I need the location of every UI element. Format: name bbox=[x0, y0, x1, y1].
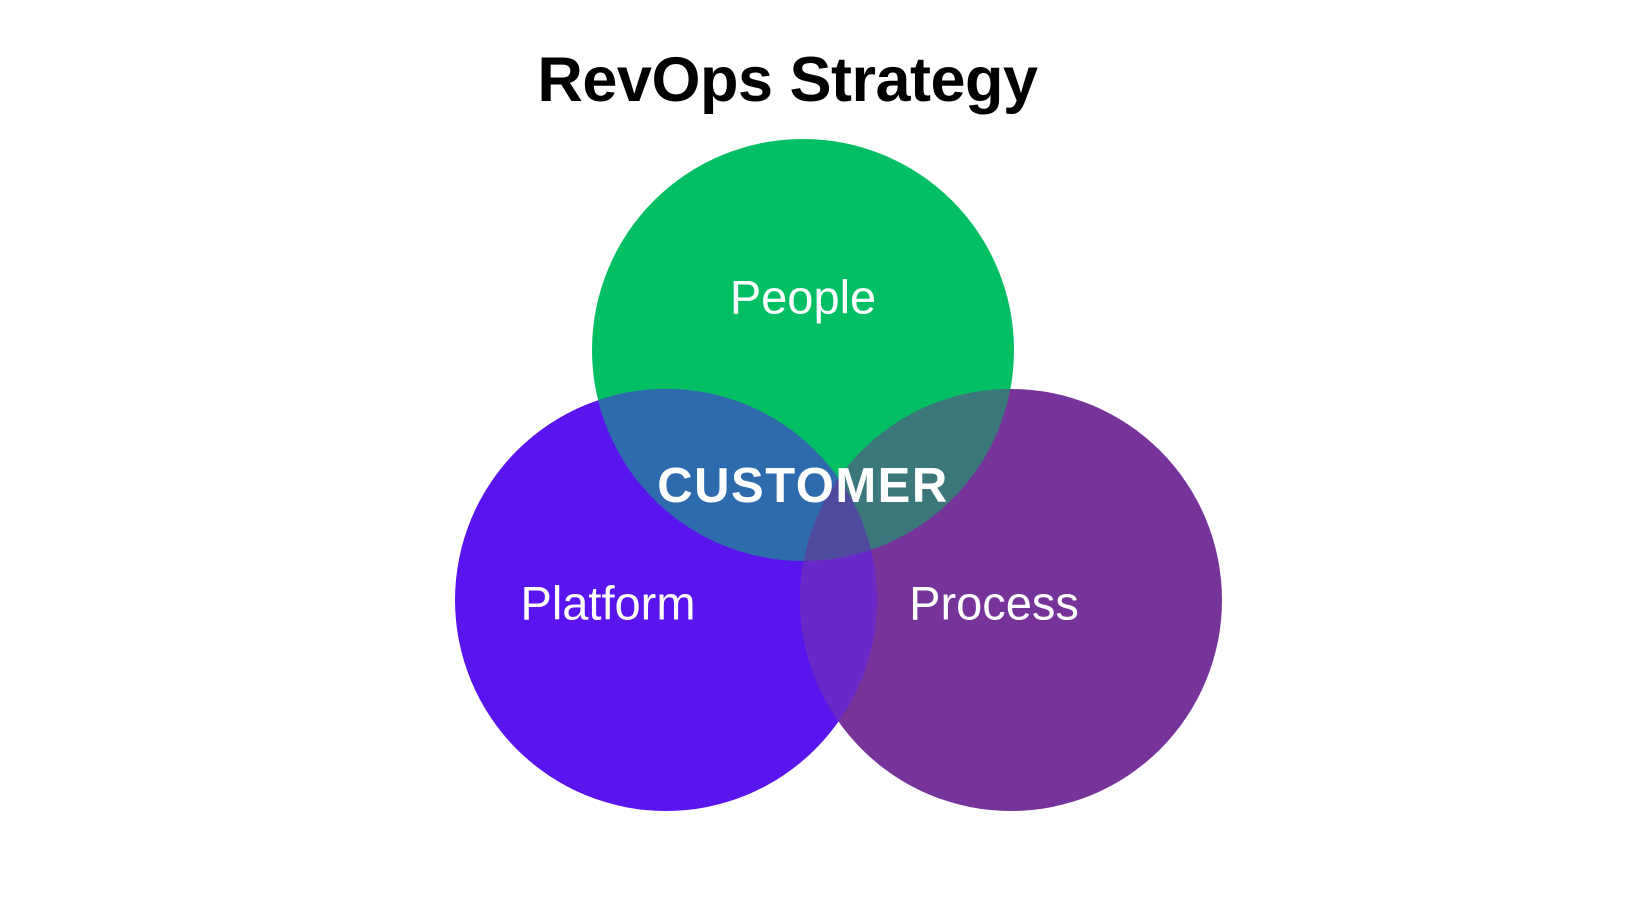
venn-label-platform: Platform bbox=[521, 576, 696, 629]
venn-diagram-canvas: RevOps Strategy bbox=[0, 0, 1640, 924]
venn-label-people: People bbox=[730, 270, 876, 323]
venn-diagram-svg: People Platform Process CUSTOMER bbox=[0, 0, 1640, 924]
venn-label-process: Process bbox=[909, 576, 1079, 629]
venn-label-customer: CUSTOMER bbox=[657, 459, 949, 513]
